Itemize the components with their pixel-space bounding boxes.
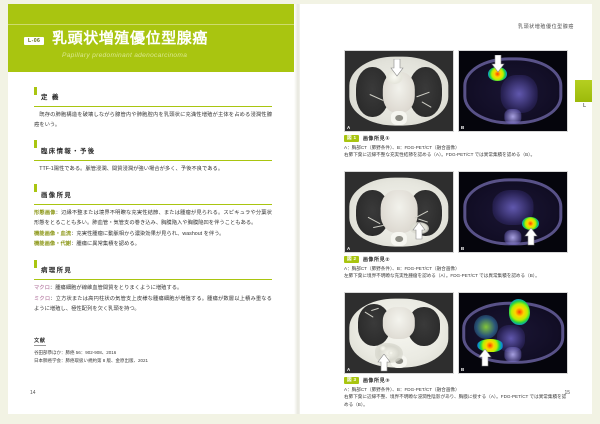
figure-3-caption: 図 3 画像所見③ A：胸部CT（肺野条件）、B：FDG-PET/CT（融合画像… <box>344 377 568 409</box>
figure-2: A B 図 <box>344 171 568 280</box>
finding-item: 機能画像・代謝：腫瘍に異常集積を認める。 <box>34 240 272 250</box>
pointer-arrow-icon <box>491 55 505 73</box>
section-paragraph: TTF-1陽性である。脈管浸潤、間質浸潤が強い場合が多く、予後不良である。 <box>34 165 272 175</box>
pane-label: B <box>461 125 464 130</box>
section-heading-label: 病理所見 <box>41 267 72 274</box>
pointer-arrow-icon <box>377 354 391 372</box>
figure-image-row: A B <box>344 171 568 253</box>
figure-1-pane-b[interactable]: B <box>458 50 568 132</box>
figure-1: A B 図 <box>344 50 568 159</box>
caption-line: 左肺下葉に境界不明瞭な充実性腫瘤を認める（A）。FDG-PET/CT では異常集… <box>344 272 568 280</box>
figure-2-pane-b[interactable]: B <box>458 171 568 253</box>
pathology-key: マクロ <box>34 285 50 291</box>
finding-key: 形態画像 <box>34 210 56 216</box>
pointer-arrow-icon <box>412 222 426 240</box>
section-heading: 定 義 <box>34 86 272 107</box>
chapter-badge: L-06 <box>24 37 44 45</box>
caption-line: A：胸部CT（肺野条件）、B：FDG-PET/CT（融合画像） <box>344 386 568 394</box>
references-section: 文献 谷田部恭ほか：肺癌 56：902-908、2016 日本肺癌学会：肺癌取扱… <box>34 329 272 366</box>
pathology-value: 腫瘍細胞が線維血管間質をとりまくように増殖する。 <box>55 285 182 291</box>
masthead-rule <box>8 24 296 25</box>
figure-title: 画像所見③ <box>363 377 390 384</box>
reference-entry: 谷田部恭ほか：肺癌 56：902-908、2016 <box>34 349 272 358</box>
section-definition: 定 義 既存の肺胞構造を破壊しながら腺管内や肺胞腔内を乳頭状に充満性増殖が主体を… <box>34 86 272 131</box>
figure-image-row: A B <box>344 50 568 132</box>
book-spread: L-06 乳頭状増殖優位型腺癌 Papillary predominant ad… <box>0 0 600 424</box>
section-pathology-findings: 病理所見 マクロ：腫瘍細胞が線維血管間質をとりまくように増殖する。 ミクロ：立方… <box>34 259 272 315</box>
pane-label: A <box>347 246 350 251</box>
left-body-column: 定 義 既存の肺胞構造を破壊しながら腺管内や肺胞腔内を乳頭状に充満性増殖が主体を… <box>34 86 272 366</box>
caption-line: 右肺下葉に辺縁不整、境界不明瞭な浸潤性陰影があり、胸膜に接する（A）。FDG-P… <box>344 393 568 409</box>
caption-line: A：胸部CT（肺野条件）、B：FDG-PET/CT（融合画像） <box>344 144 568 152</box>
finding-item: 形態画像：辺縁不整または境界不明瞭な充実性結節、または腫瘤が見られる。スピキュラ… <box>34 209 272 229</box>
finding-key: 機能画像・代謝 <box>34 241 71 247</box>
figure-title: 画像所見① <box>363 135 390 142</box>
chest-ct-image <box>345 293 453 373</box>
caption-line: 右肺下葉に辺縁不整な充実性結節を認める（A）。FDG-PET/CT では異常集積… <box>344 151 568 159</box>
pane-label: B <box>461 367 464 372</box>
figure-1-pane-a[interactable]: A <box>344 50 454 132</box>
pane-label: B <box>461 246 464 251</box>
caption-header: 図 2 画像所見② <box>344 256 568 263</box>
caption-line: A：胸部CT（肺野条件）、B：FDG-PET/CT（融合画像） <box>344 265 568 273</box>
figure-image-row: A B <box>344 292 568 374</box>
section-heading-label: 臨床情報・予後 <box>41 148 96 155</box>
section-imaging-findings: 画像所見 形態画像：辺縁不整または境界不明瞭な充実性結節、または腫瘤が見られる。… <box>34 184 272 250</box>
section-heading-label: 定 義 <box>41 94 60 101</box>
page-number-left: 14 <box>30 390 36 396</box>
figure-2-caption: 図 2 画像所見② A：胸部CT（肺野条件）、B：FDG-PET/CT（融合画像… <box>344 256 568 280</box>
pathology-value: 立方状または高円柱状の気管支上皮様な腫瘍細胞が増殖する。腫瘍が数層以上積み重なる… <box>34 296 272 312</box>
chest-ct-image <box>345 172 453 252</box>
side-tab-letter: L <box>576 103 593 109</box>
page-number-right: 15 <box>564 390 570 396</box>
section-heading: 病理所見 <box>34 259 272 280</box>
running-head: 乳頭状増殖優位型腺癌 <box>518 23 574 30</box>
section-clinical: 臨床情報・予後 TTF-1陽性である。脈管浸潤、間質浸潤が強い場合が多く、予後不… <box>34 140 272 175</box>
finding-value: 充実性腫瘤に動脈相から濃染効果が見られ、washout を伴う。 <box>76 231 224 237</box>
figure-3: A B <box>344 292 568 409</box>
caption-header: 図 1 画像所見① <box>344 135 568 142</box>
references-heading: 文献 <box>34 337 46 346</box>
right-page: 乳頭状増殖優位型腺癌 L <box>300 4 592 414</box>
pathology-key: ミクロ <box>34 296 50 302</box>
figure-number: 図 2 <box>344 256 359 263</box>
section-paragraph: 既存の肺胞構造を破壊しながら腺管内や肺胞腔内を乳頭状に充満性増殖が主体を占める浸… <box>34 111 272 131</box>
section-heading: 画像所見 <box>34 184 272 205</box>
pointer-arrow-icon <box>524 228 538 246</box>
chapter-masthead: L-06 乳頭状増殖優位型腺癌 Papillary predominant ad… <box>8 4 296 72</box>
figure-number: 図 3 <box>344 377 359 384</box>
fdg-pet-ct-image <box>459 293 567 373</box>
left-page: L-06 乳頭状増殖優位型腺癌 Papillary predominant ad… <box>8 4 296 414</box>
figure-3-pane-b[interactable]: B <box>458 292 568 374</box>
side-tab: L <box>575 80 592 102</box>
pathology-item: ミクロ：立方状または高円柱状の気管支上皮様な腫瘍細胞が増殖する。腫瘍が数層以上積… <box>34 295 272 315</box>
finding-item: 機能画像・血流：充実性腫瘤に動脈相から濃染効果が見られ、washout を伴う。 <box>34 230 272 240</box>
figure-number: 図 1 <box>344 135 359 142</box>
pathology-item: マクロ：腫瘍細胞が線維血管間質をとりまくように増殖する。 <box>34 284 272 294</box>
section-heading: 臨床情報・予後 <box>34 140 272 161</box>
caption-header: 図 3 画像所見③ <box>344 377 568 384</box>
page-subtitle: Papillary predominant adenocarcinoma <box>62 52 187 59</box>
figure-title: 画像所見② <box>363 256 390 263</box>
fdg-pet-ct-image <box>459 172 567 252</box>
finding-value: 腫瘍に異常集積を認める。 <box>76 241 140 247</box>
finding-value: 辺縁不整または境界不明瞭な充実性結節、または腫瘤が見られる。スピキュラや分葉状形… <box>34 210 272 226</box>
figure-2-pane-a[interactable]: A <box>344 171 454 253</box>
page-title: 乳頭状増殖優位型腺癌 <box>52 31 208 46</box>
pointer-arrow-icon <box>390 59 404 77</box>
pointer-arrow-icon <box>478 349 492 367</box>
figure-3-pane-a[interactable]: A <box>344 292 454 374</box>
pane-label: A <box>347 125 350 130</box>
figure-1-caption: 図 1 画像所見① A：胸部CT（肺野条件）、B：FDG-PET/CT（融合画像… <box>344 135 568 159</box>
finding-key: 機能画像・血流 <box>34 231 71 237</box>
reference-entry: 日本肺癌学会：肺癌取扱い規約第 8 版、金原出版、2021 <box>34 357 272 366</box>
fdg-pet-ct-image <box>459 51 567 131</box>
pane-label: A <box>347 367 350 372</box>
section-heading-label: 画像所見 <box>41 192 72 199</box>
